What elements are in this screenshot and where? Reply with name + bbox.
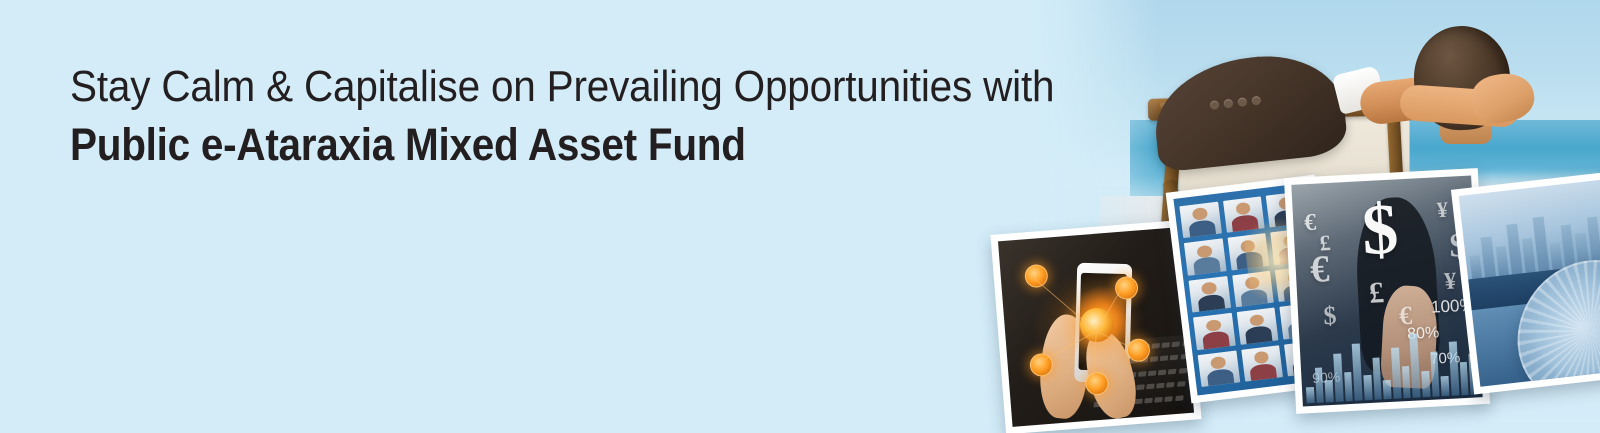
promotional-banner: € £ € $ £ ¥ $ ¥ $ € 100% 80% 70% 90% <box>0 0 1600 433</box>
portrait-tile <box>1189 276 1231 313</box>
portrait-tile <box>1180 202 1222 239</box>
portrait-tile <box>1198 350 1240 387</box>
dollar-symbol: $ <box>1323 303 1337 330</box>
portrait-tile <box>1237 308 1279 345</box>
yen-symbol: ¥ <box>1436 199 1448 222</box>
photo-satellite-dish <box>1451 169 1600 394</box>
satellite-dish-image <box>1459 177 1600 387</box>
pound-symbol: £ <box>1368 278 1385 309</box>
headline-line-2: Public e-Ataraxia Mixed Asset Fund <box>70 118 970 172</box>
headline-block: Stay Calm & Capitalise on Prevailing Opp… <box>70 62 1070 172</box>
beach-scene-photo: € £ € $ £ ¥ $ ¥ $ € 100% 80% 70% 90% <box>980 0 1600 433</box>
dollar-symbol: $ <box>1360 193 1400 267</box>
portrait-tile <box>1184 239 1226 276</box>
portrait-tile <box>1193 313 1235 350</box>
camera-icon <box>1114 275 1139 300</box>
headline-line-1: Stay Calm & Capitalise on Prevailing Opp… <box>70 62 990 112</box>
euro-symbol: € <box>1303 210 1316 235</box>
suit-jacket <box>1149 48 1349 172</box>
stock-chart <box>1299 322 1483 407</box>
photo-collage: € £ € $ £ ¥ $ ¥ $ € 100% 80% 70% 90% <box>980 173 1600 433</box>
mobile-banking-image <box>998 227 1194 427</box>
portrait-tile <box>1241 345 1283 382</box>
photo-mobile-banking <box>990 220 1201 433</box>
euro-symbol: € <box>1309 250 1330 289</box>
cloud-icon <box>1024 264 1049 289</box>
yen-symbol: ¥ <box>1444 270 1457 295</box>
